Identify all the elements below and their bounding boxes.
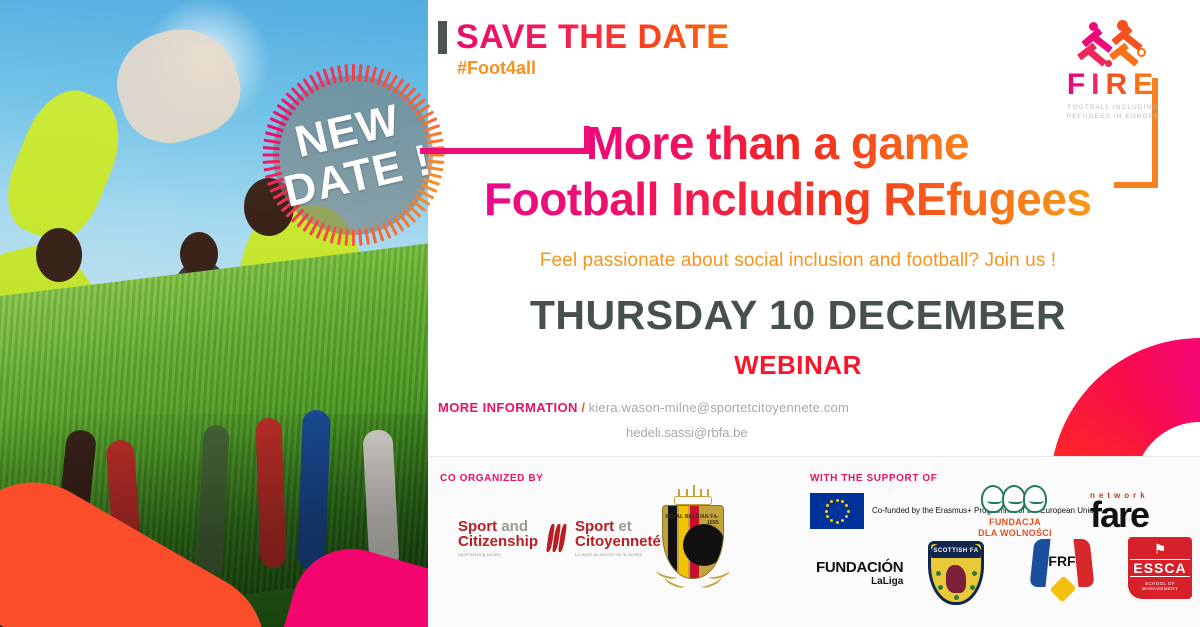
- essca-subtitle: SCHOOL OF MANAGEMENT: [1128, 581, 1192, 591]
- eu-star: [845, 515, 848, 518]
- more-information-line-1: MORE INFORMATION / kiera.wason-milne@spo…: [438, 400, 849, 415]
- frf-logo: FRF: [1030, 539, 1094, 605]
- headline-line-1: More than a game: [586, 112, 1196, 174]
- fundacja-name: FUNDACJA DLA WOLNOŚCI: [960, 517, 1070, 539]
- more-information-separator: /: [581, 400, 585, 415]
- eu-flag-icon: [810, 493, 864, 529]
- footer: CO ORGANIZED BY WITH THE SUPPORT OF Spor…: [428, 457, 1200, 627]
- fundacja-line-2: DLA WOLNOŚCI: [960, 528, 1070, 539]
- headline-line-2: Football Including REfugees: [484, 172, 1196, 226]
- sport-and-citizenship-en: Sport and Citizenship Sport serving soci…: [458, 519, 538, 557]
- fire-tagline: FOOTBALL INCLUDING REFUGEES IN EUROPE: [1054, 103, 1172, 121]
- hashtag: #Foot4all: [457, 58, 536, 79]
- with-the-support-of-label: WITH THE SUPPORT OF: [810, 473, 938, 484]
- laurel-wreath-icon: [656, 565, 730, 595]
- fundacion-laliga-logo: FUNDACIÓN LaLiga: [816, 559, 903, 587]
- sport-et-citoyennete-fr: Sport et Citoyenneté Le Sport au service…: [575, 519, 661, 557]
- eu-star: [830, 519, 833, 522]
- shield-dot: [972, 571, 977, 576]
- fire-tagline-line-2: REFUGEES IN EUROPE: [1054, 112, 1172, 121]
- co-organized-by-label: CO ORGANIZED BY: [440, 473, 543, 484]
- fundacja-dla-wolnosci-logo: FUNDACJA DLA WOLNOŚCI: [960, 485, 1070, 539]
- fire-mark-dot: [1137, 48, 1146, 57]
- fire-mark-dot: [1105, 60, 1112, 67]
- fire-logo: FIRE FOOTBALL INCLUDING REFUGEES IN EURO…: [1054, 18, 1172, 121]
- poster: NEW DATE ! SAVE THE DATE #Foot4all More …: [0, 0, 1200, 627]
- crown-point: [693, 485, 695, 497]
- eu-star: [847, 510, 850, 513]
- shield-dot: [954, 595, 959, 600]
- sac-line-2: Citizenship: [458, 534, 538, 549]
- save-the-date-title: SAVE THE DATE: [456, 18, 730, 57]
- fire-logomark-icon: [1067, 18, 1159, 68]
- crown-point: [700, 489, 702, 497]
- scottish-fa-ribbon: SCOTTISH FA: [931, 544, 981, 558]
- eu-star: [845, 504, 848, 507]
- lion-rampant-icon: [946, 565, 966, 593]
- sac-slogan: Sport serving society: [458, 552, 538, 557]
- essca-emblem-icon: ⚑: [1128, 541, 1192, 557]
- face-icon: [981, 485, 1005, 513]
- fire-tagline-line-1: FOOTBALL INCLUDING: [1054, 103, 1172, 112]
- eu-star: [841, 519, 844, 522]
- fire-wordmark: FIRE: [1054, 70, 1172, 100]
- essca-word: ESSCA: [1130, 559, 1189, 577]
- crest-ball: [683, 524, 724, 566]
- eu-star: [830, 500, 833, 503]
- frf-word: FRF: [1030, 553, 1094, 569]
- fare-word: fare: [1090, 500, 1149, 530]
- eu-star: [825, 510, 828, 513]
- contact-email-1[interactable]: kiera.wason-milne@sportetcitoyennete.com: [589, 400, 849, 415]
- laurel-leaf: [699, 573, 723, 590]
- headline-text-2: Football Including REfugees: [484, 172, 1092, 226]
- crown-point: [686, 489, 688, 497]
- eu-star: [836, 521, 839, 524]
- fundacja-line-1: FUNDACJA: [960, 517, 1070, 528]
- crown-point: [707, 489, 709, 497]
- sec-slogan: Le Sport au service de la société: [575, 552, 661, 557]
- tagline: Feel passionate about social inclusion a…: [428, 250, 1168, 272]
- face-icon: [1002, 485, 1026, 513]
- fire-letter-r: R: [1105, 68, 1133, 101]
- eu-star: [836, 499, 839, 502]
- face-icon: [1023, 485, 1047, 513]
- fire-mark-stroke: [1119, 48, 1139, 66]
- eu-star: [841, 500, 844, 503]
- crown-band: [674, 496, 712, 505]
- fire-mark-dot: [1117, 20, 1128, 31]
- sac-line-1: Sport and: [458, 519, 538, 534]
- sec-line-1: Sport et: [575, 519, 661, 534]
- contact-email-2[interactable]: hedeli.sassi@rbfa.be: [626, 425, 849, 440]
- accent-bar: [438, 21, 447, 54]
- scottish-fa-logo: SCOTTISH FA: [928, 541, 984, 605]
- shield-dot: [938, 585, 943, 590]
- shield-dot: [936, 571, 941, 576]
- shield-dot: [970, 585, 975, 590]
- event-date: THURSDAY 10 DECEMBER: [428, 292, 1168, 339]
- sport-and-citizenship-logo: Sport and Citizenship Sport serving soci…: [458, 519, 661, 557]
- fire-letter-i: I: [1091, 68, 1105, 101]
- eu-star: [826, 515, 829, 518]
- royal-belgian-fa-logo: ROYAL BELGIAN FA-1895: [650, 479, 736, 599]
- crown-icon: [674, 485, 712, 505]
- essca-logo: ⚑ ESSCA SCHOOL OF MANAGEMENT: [1128, 537, 1192, 599]
- three-faces-icon: [960, 485, 1070, 513]
- fare-network-logo: network fare: [1090, 491, 1149, 530]
- fire-letter-e: E: [1133, 68, 1159, 101]
- eu-star: [826, 504, 829, 507]
- save-the-date-row: SAVE THE DATE: [438, 18, 730, 57]
- sec-line-2: Citoyenneté: [575, 534, 661, 549]
- crest-text: ROYAL BELGIAN FA-1895: [663, 514, 719, 526]
- more-information-label: MORE INFORMATION: [438, 400, 578, 415]
- more-information-block: MORE INFORMATION / kiera.wason-milne@spo…: [438, 400, 849, 440]
- crown-point: [678, 489, 680, 497]
- fire-mark-stroke: [1087, 48, 1107, 66]
- frf-yellow-diamond: [1050, 576, 1077, 603]
- fundacion-line-1: FUNDACIÓN: [816, 559, 903, 576]
- fundacion-line-2: LaLiga: [816, 576, 903, 587]
- fire-letter-f: F: [1067, 68, 1091, 101]
- headline-text-1: More than a game: [586, 112, 969, 174]
- new-date-stamp: NEW DATE !: [262, 64, 444, 246]
- flame-icon: [548, 524, 565, 552]
- pink-connector-line: [420, 148, 590, 154]
- fire-mark-dot: [1089, 22, 1098, 31]
